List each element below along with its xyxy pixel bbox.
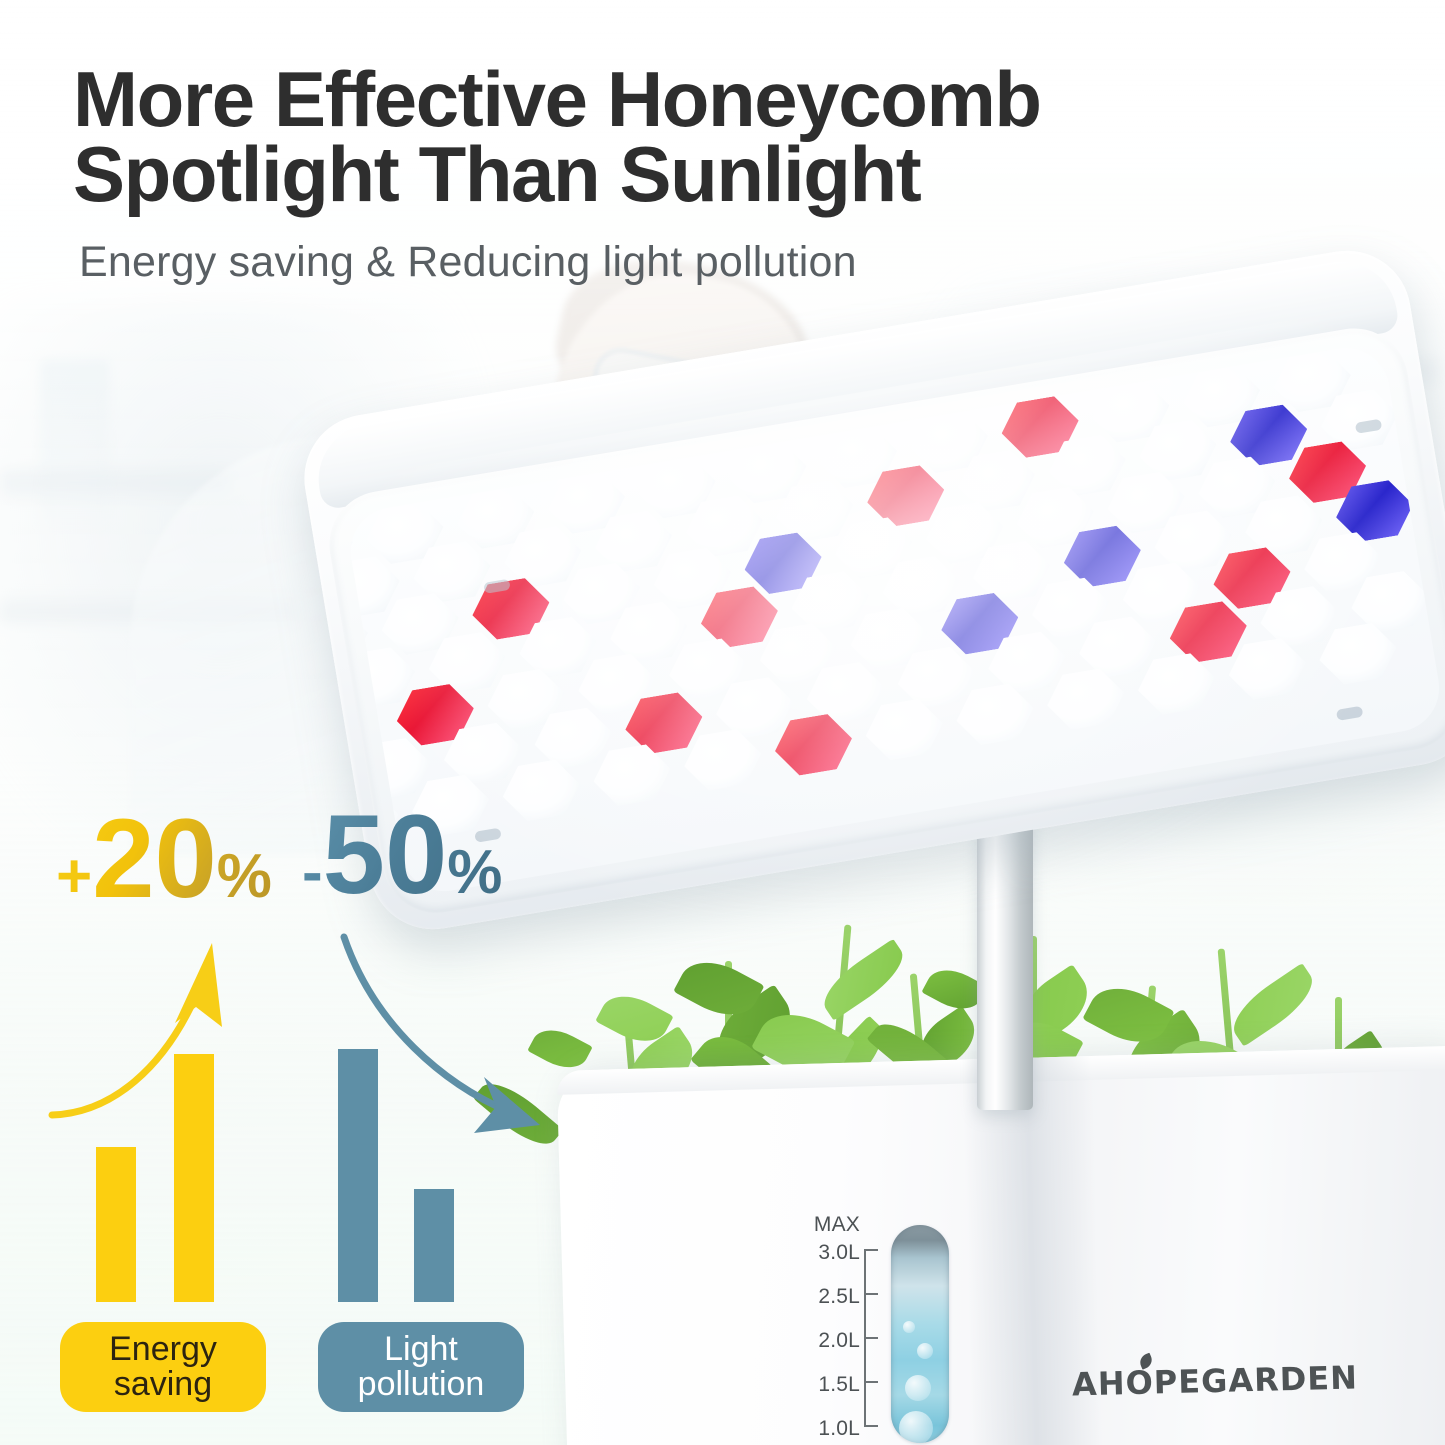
gauge-tick-label-3-0: 3.0L: [818, 1241, 860, 1265]
gauge-tick-mark: [864, 1425, 878, 1427]
plant-leaf: [1223, 963, 1322, 1047]
energy-unit: %: [217, 842, 272, 911]
water-level-gauge: MAX 3.0L 2.5L 2.0L 1.5L 1.0L: [788, 1213, 963, 1445]
gauge-tick-mark: [864, 1293, 878, 1295]
led-cell-white: [1224, 635, 1310, 703]
light-pollution-percent: -50%: [302, 799, 502, 911]
legend-energy-saving[interactable]: Energy saving: [60, 1322, 266, 1412]
legend-pollution-line2: pollution: [358, 1365, 485, 1403]
energy-saving-percent: +20%: [56, 803, 272, 915]
gauge-tick-label-1-0: 1.0L: [818, 1417, 860, 1441]
down-arrow-head: [474, 1077, 540, 1133]
water-bubble: [899, 1411, 933, 1443]
energy-sign: +: [56, 842, 92, 911]
water-level-window: [891, 1225, 949, 1443]
led-cell-white: [680, 726, 766, 794]
legend-energy-line2: saving: [114, 1365, 212, 1403]
brand-logo-text: AHOPEGARDEN: [1072, 1359, 1359, 1404]
page-subtitle: Energy saving & Reducing light pollution: [79, 238, 1253, 287]
gauge-tick-label-2-5: 2.5L: [818, 1285, 860, 1309]
energy-value: 20: [92, 796, 217, 921]
up-arrow-head: [175, 943, 222, 1027]
legend-energy-text: Energy saving: [109, 1332, 217, 1402]
led-cell-white: [1043, 665, 1129, 733]
benefits-bar-chart: +20% -50% Energy saving Light pollution: [44, 795, 564, 1420]
led-cell-white: [952, 680, 1038, 748]
pollution-unit: %: [447, 838, 502, 907]
bar-energy-before: [96, 1147, 136, 1302]
up-arrow-curve: [52, 1000, 194, 1115]
led-cell-white: [1133, 650, 1219, 718]
gauge-tick-mark: [864, 1337, 878, 1339]
water-bubble: [903, 1321, 915, 1333]
bar-energy-after: [174, 1054, 214, 1302]
plant-leaf: [814, 939, 912, 1021]
led-cell-red: [770, 711, 856, 779]
pollution-sign: -: [302, 838, 323, 907]
gauge-tick-mark: [864, 1381, 878, 1383]
brand-logo: AHOPEGARDEN: [1072, 1359, 1359, 1404]
water-bubble: [917, 1343, 933, 1359]
page-title: More Effective Honeycomb Spotlight Than …: [73, 62, 1253, 212]
legend-energy-line1: Energy: [109, 1330, 217, 1368]
gauge-tick-label-2-0: 2.0L: [818, 1329, 860, 1353]
legend-pollution-line1: Light: [384, 1330, 458, 1368]
bar-pollution-before: [338, 1049, 378, 1302]
pollution-value: 50: [323, 792, 448, 917]
led-cell-white: [1315, 620, 1401, 688]
gauge-tick-label-1-5: 1.5L: [818, 1373, 860, 1397]
bar-pollution-after: [414, 1189, 454, 1302]
gauge-max-label: MAX: [814, 1213, 860, 1237]
water-bubble: [905, 1375, 931, 1401]
legend-pollution-text: Light pollution: [358, 1332, 485, 1402]
gauge-tick-mark: [864, 1249, 878, 1251]
heading-block: More Effective Honeycomb Spotlight Than …: [73, 62, 1253, 287]
led-cell-white: [589, 741, 675, 809]
legend-light-pollution[interactable]: Light pollution: [318, 1322, 524, 1412]
product-marketing-image: More Effective Honeycomb Spotlight Than …: [0, 0, 1445, 1445]
led-cell-white: [861, 696, 947, 764]
